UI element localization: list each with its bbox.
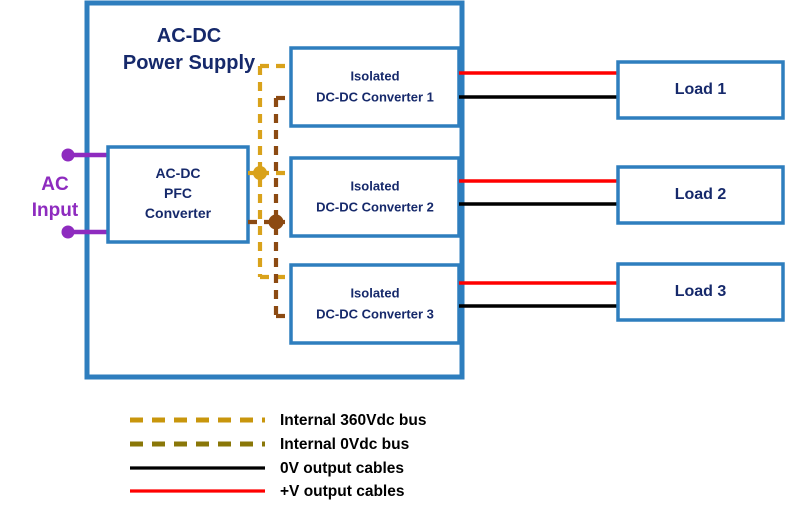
isolated-dc-dc-converter-3-label-line1: Isolated xyxy=(350,285,399,300)
ac-dc-power-supply-block-diagram: AC-DCPower SupplyACInputAC-DCPFCConverte… xyxy=(0,0,800,506)
isolated-dc-dc-converter-3-label-line2: DC-DC Converter 3 xyxy=(316,306,434,321)
isolated-dc-dc-converter-2-label-line2: DC-DC Converter 2 xyxy=(316,199,434,214)
isolated-dc-dc-converter-1-label-line1: Isolated xyxy=(350,68,399,83)
enclosure-title-line2: Power Supply xyxy=(123,52,256,74)
ac-input-terminal-neutral-dot xyxy=(62,226,75,239)
load-1-label: Load 1 xyxy=(675,81,727,98)
ac-input-label-line2: Input xyxy=(32,200,79,221)
enclosure-title-line1: AC-DC xyxy=(157,25,221,47)
isolated-dc-dc-converter-2-label-line1: Isolated xyxy=(350,178,399,193)
ac-dc-pfc-converter-label-2: PFC xyxy=(164,185,192,201)
ac-input-terminal-line-dot xyxy=(62,149,75,162)
legend-internal-0vdc-bus-label: Internal 0Vdc bus xyxy=(280,436,409,453)
isolated-dc-dc-converter-1 xyxy=(291,48,459,126)
block-diagram-root: AC-DCPower SupplyACInputAC-DCPFCConverte… xyxy=(0,0,800,506)
legend-0v-output-cables-label: 0V output cables xyxy=(280,460,404,477)
isolated-dc-dc-converter-1-label-line2: DC-DC Converter 1 xyxy=(316,89,434,104)
ac-dc-pfc-converter-label-1: AC-DC xyxy=(155,165,200,181)
internal-0vdc-bus-junction-dot xyxy=(269,215,284,230)
load-3-label: Load 3 xyxy=(675,283,727,300)
ac-dc-pfc-converter-label-3: Converter xyxy=(145,205,212,221)
legend-internal-360vdc-bus-label: Internal 360Vdc bus xyxy=(280,412,426,429)
isolated-dc-dc-converter-3 xyxy=(291,265,459,343)
legend-pv-output-cables-label: +V output cables xyxy=(280,483,404,500)
load-2-label: Load 2 xyxy=(675,186,727,203)
ac-input-label-line1: AC xyxy=(41,174,69,195)
isolated-dc-dc-converter-2 xyxy=(291,158,459,236)
internal-360vdc-bus-junction-dot xyxy=(253,166,267,180)
